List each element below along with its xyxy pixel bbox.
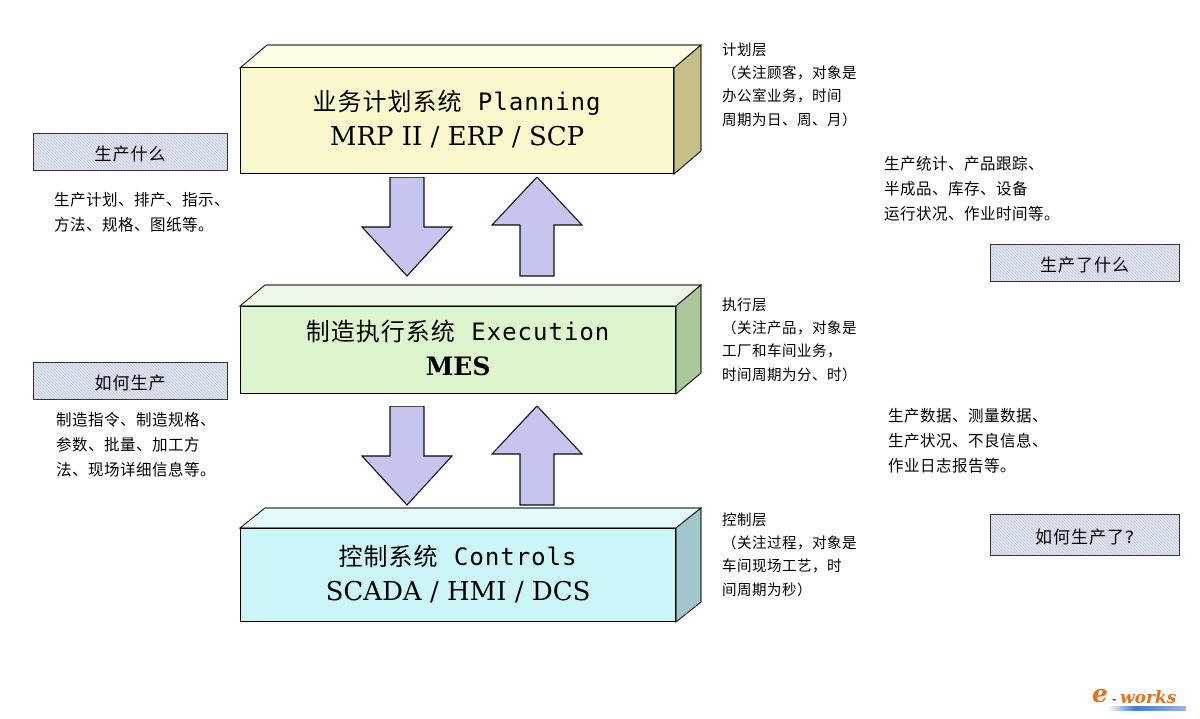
- note-controls-layer: 控制层 （关注过程，对象是 车间现场工艺，时 间周期为秒）: [722, 510, 922, 603]
- layer-box-execution: 制造执行系统 Execution MES: [240, 285, 672, 395]
- arrow-execution-to-planning: [491, 177, 583, 277]
- execution-box-front: 制造执行系统 Execution MES: [240, 306, 676, 394]
- logo-separator: -: [1112, 693, 1117, 706]
- note-planning-layer: 计划层 （关注顾客，对象是 办公室业务，时间 周期为日、周、月）: [722, 40, 922, 133]
- note-execution-layer: 执行层 （关注产品，对象是 工厂和车间业务， 时间周期为分、时）: [722, 295, 922, 388]
- note-execution-down: 制造指令、制造规格、 参数、批量、加工方 法、现场详细信息等。: [56, 408, 326, 483]
- diagram-canvas: 业务计划系统 Planning MRP II / ERP / SCP 制造执行系…: [0, 0, 1200, 719]
- controls-title: 控制系统 Controls: [338, 542, 577, 572]
- badge-how-was-it-produced-label: 如何生产了?: [1035, 523, 1135, 548]
- badge-what-was-produced-label: 生产了什么: [1040, 251, 1130, 276]
- planning-box-front: 业务计划系统 Planning MRP II / ERP / SCP: [240, 67, 674, 174]
- eworks-logo: e - works: [1090, 678, 1190, 714]
- badge-what-was-produced[interactable]: 生产了什么: [990, 244, 1180, 282]
- arrow-controls-to-execution: [491, 406, 583, 506]
- arrow-planning-to-execution: [361, 177, 453, 277]
- execution-title: 制造执行系统 Execution: [306, 317, 611, 347]
- controls-subtitle: SCADA / HMI / DCS: [326, 576, 591, 609]
- badge-how-to-produce[interactable]: 如何生产: [33, 362, 228, 400]
- badge-how-was-it-produced[interactable]: 如何生产了?: [990, 514, 1180, 556]
- planning-title: 业务计划系统 Planning: [312, 87, 601, 117]
- controls-box-front: 控制系统 Controls SCADA / HMI / DCS: [240, 528, 676, 622]
- logo-word-works: works: [1120, 688, 1177, 708]
- note-execution-up: 生产数据、测量数据、 生产状况、不良信息、 作业日志报告等。: [888, 404, 1138, 479]
- badge-how-to-produce-label: 如何生产: [95, 369, 167, 394]
- logo-underline-bar: [1108, 706, 1186, 711]
- layer-box-controls: 控制系统 Controls SCADA / HMI / DCS: [240, 508, 672, 623]
- badge-what-to-produce-label: 生产什么: [95, 140, 167, 165]
- planning-subtitle: MRP II / ERP / SCP: [330, 121, 584, 154]
- badge-what-to-produce[interactable]: 生产什么: [33, 133, 228, 171]
- note-planning-down: 生产计划、排产、指示、 方法、规格、图纸等。: [54, 188, 324, 238]
- layer-box-planning: 业务计划系统 Planning MRP II / ERP / SCP: [240, 45, 672, 175]
- logo-letter-e: e: [1092, 679, 1108, 708]
- execution-subtitle: MES: [426, 351, 491, 382]
- note-planning-up: 生产统计、产品跟踪、 半成品、库存、设备 运行状况、作业时间等。: [884, 152, 1134, 227]
- arrow-execution-to-controls: [361, 406, 453, 506]
